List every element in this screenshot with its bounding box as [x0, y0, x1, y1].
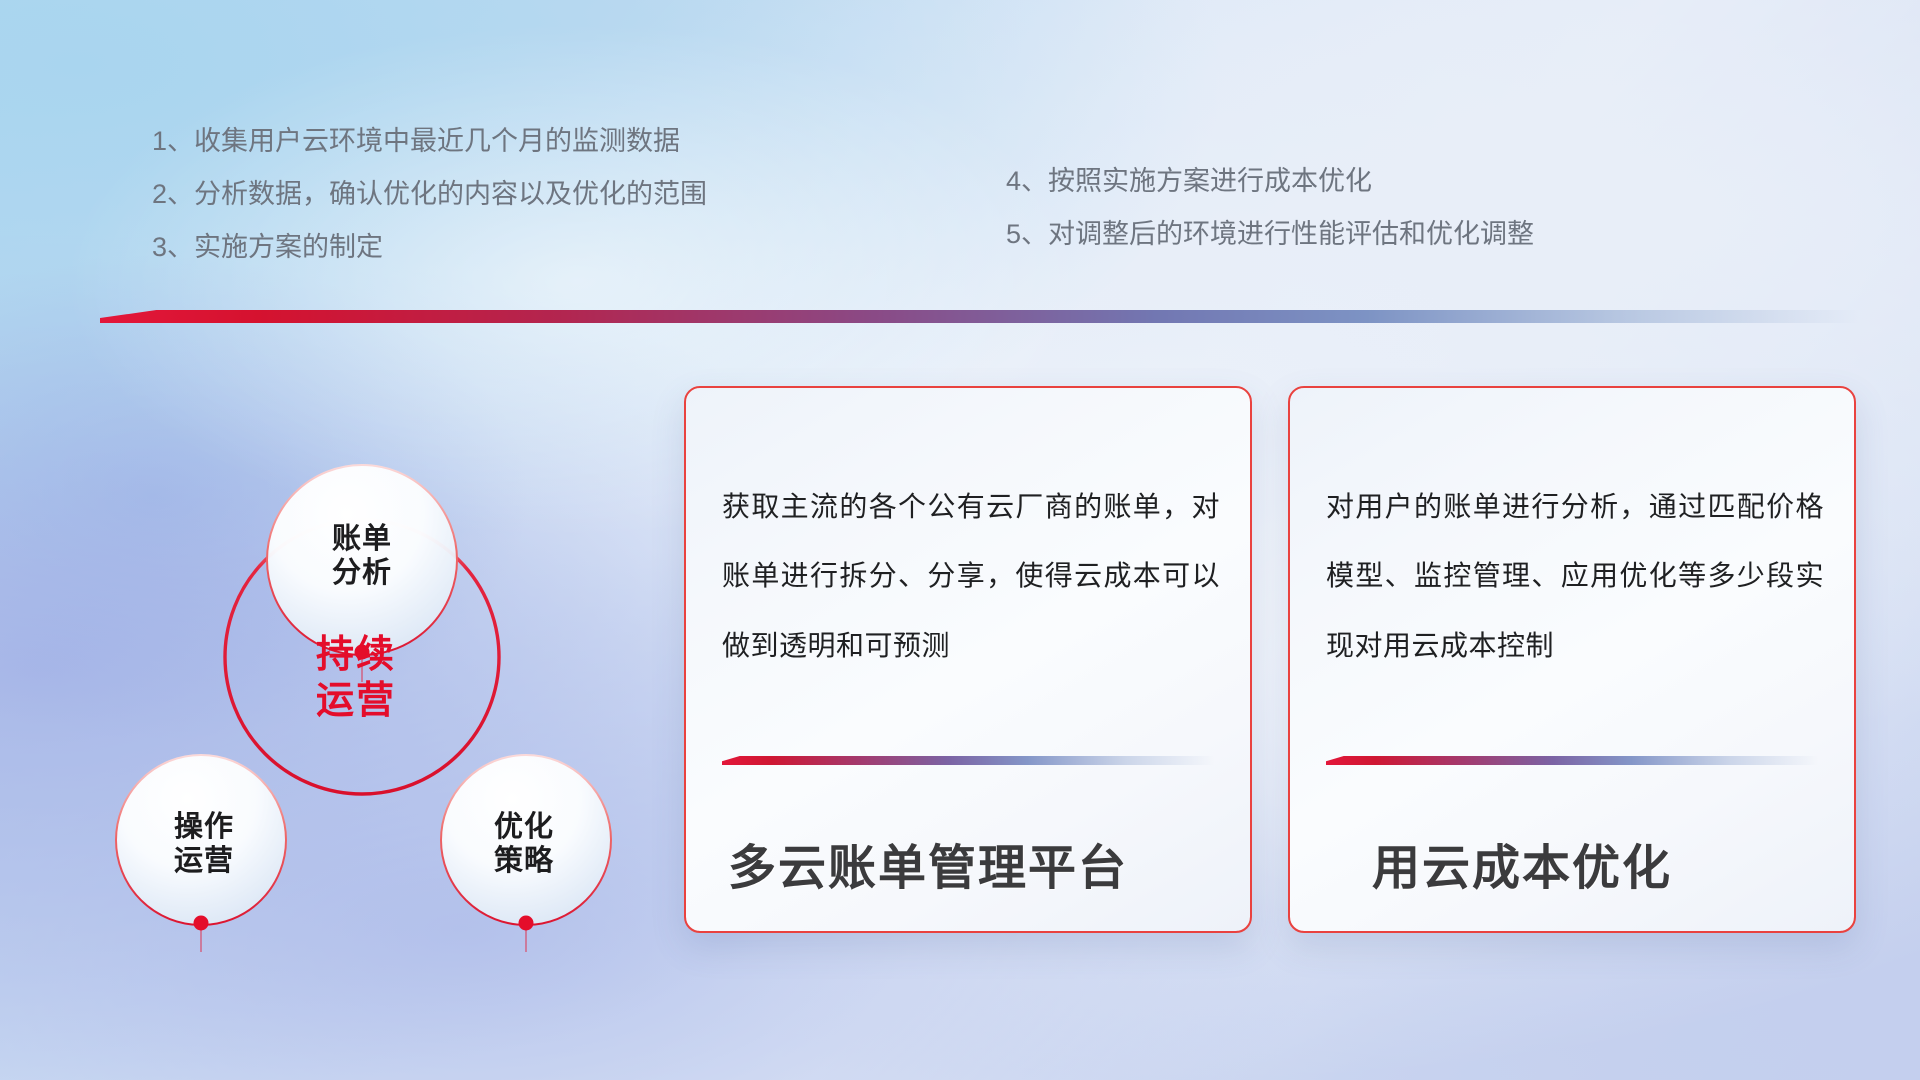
step-item-2: 2、分析数据，确认优化的内容以及优化的范围 — [152, 181, 707, 208]
venn-center-line2: 运营 — [256, 678, 456, 724]
steps-list-left: 1、收集用户云环境中最近几个月的监测数据 2、分析数据，确认优化的内容以及优化的… — [152, 128, 707, 287]
venn-label-ops-line2: 运营 — [124, 844, 284, 878]
venn-node-opt — [519, 916, 534, 931]
venn-node-ops — [194, 916, 209, 931]
feature-card-cost-optimization[interactable]: 对用户的账单进行分析，通过匹配价格模型、监控管理、应用优化等多少段实现对用云成本… — [1288, 386, 1856, 933]
venn-label-bill-line1: 账单 — [282, 522, 442, 556]
card-body-text: 对用户的账单进行分析，通过匹配价格模型、监控管理、应用优化等多少段实现对用云成本… — [1326, 472, 1824, 680]
step-item-3: 3、实施方案的制定 — [152, 234, 707, 261]
steps-list-right: 4、按照实施方案进行成本优化 5、对调整后的环境进行性能评估和优化调整 — [1006, 168, 1534, 274]
venn-label-opt-line1: 优化 — [444, 810, 604, 844]
venn-center-line1: 持续 — [256, 632, 456, 678]
feature-card-billing-platform[interactable]: 获取主流的各个公有云厂商的账单，对账单进行拆分、分享，使得云成本可以做到透明和可… — [684, 386, 1252, 933]
card-title: 用云成本优化 — [1372, 828, 1830, 898]
section-divider — [100, 310, 1860, 323]
card-divider — [1326, 756, 1818, 765]
card-title: 多云账单管理平台 — [728, 828, 1226, 898]
venn-center-label: 持续 运营 — [256, 632, 456, 725]
venn-diagram: 账单 分析 操作 运营 优化 策略 持续 运营 — [96, 352, 616, 956]
venn-label-bill-line2: 分析 — [282, 556, 442, 590]
card-divider — [722, 756, 1214, 765]
step-item-4: 4、按照实施方案进行成本优化 — [1006, 168, 1534, 195]
venn-label-ops: 操作 运营 — [124, 810, 284, 878]
step-item-5: 5、对调整后的环境进行性能评估和优化调整 — [1006, 221, 1534, 248]
step-item-1: 1、收集用户云环境中最近几个月的监测数据 — [152, 128, 707, 155]
venn-label-bill: 账单 分析 — [282, 522, 442, 590]
venn-label-opt-line2: 策略 — [444, 844, 604, 878]
venn-label-opt: 优化 策略 — [444, 810, 604, 878]
venn-label-ops-line1: 操作 — [124, 810, 284, 844]
card-body-text: 获取主流的各个公有云厂商的账单，对账单进行拆分、分享，使得云成本可以做到透明和可… — [722, 472, 1220, 680]
